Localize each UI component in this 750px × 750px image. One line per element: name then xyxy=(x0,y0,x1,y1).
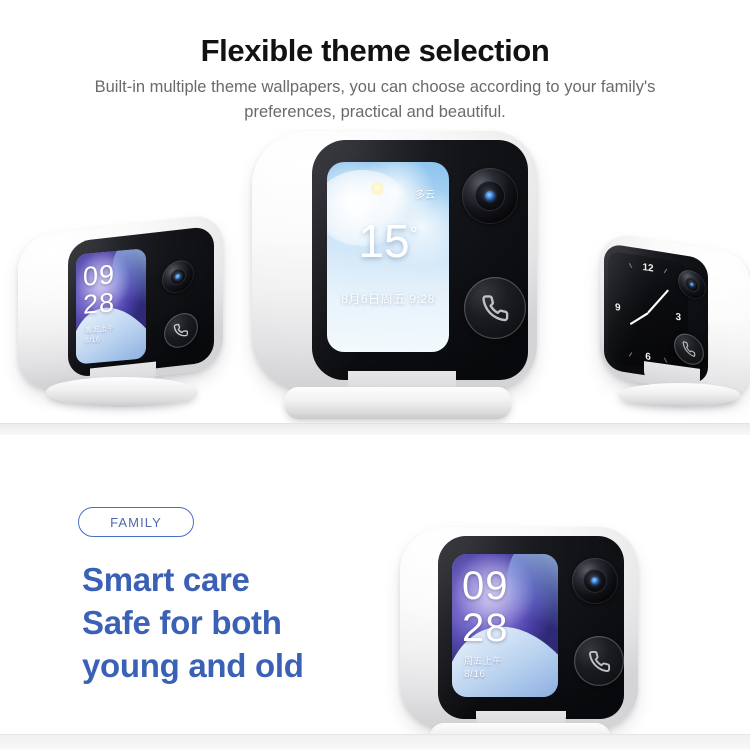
camera-lens-icon xyxy=(462,168,518,224)
weather-overlay: 多云 15° 8月6日周五 9:28 xyxy=(327,162,449,352)
clock-date: 8/16 xyxy=(85,336,100,344)
theme-selection-section: Flexible theme selection Built-in multip… xyxy=(0,0,750,435)
clock-numeral-12: 12 xyxy=(642,262,653,275)
bottom-device-screen: 09 28 周五上午 8/16 xyxy=(452,554,558,697)
family-headline: Smart care Safe for both young and old xyxy=(82,558,412,687)
center-device-screen: 多云 15° 8月6日周五 9:28 xyxy=(327,162,449,352)
clock-tick xyxy=(629,352,633,357)
clock-tick xyxy=(629,263,633,268)
headline-line-3: young and old xyxy=(82,644,412,687)
clock-tick xyxy=(664,357,668,362)
clock-numeral-3: 3 xyxy=(675,312,681,324)
bottom-device: 09 28 周五上午 8/16 xyxy=(400,527,638,727)
digital-clock-overlay: 09 28 周五上午 8/16 xyxy=(76,248,146,364)
clock-weekday: 周五上午 xyxy=(85,325,115,335)
degree-symbol: ° xyxy=(410,224,418,246)
device-front-glass: 多云 15° 8月6日周五 9:28 xyxy=(312,140,528,380)
device-front-glass: 09 28 周五上午 8/16 xyxy=(438,536,624,719)
product-feature-page: Flexible theme selection Built-in multip… xyxy=(0,0,750,750)
headline-line-1: Smart care xyxy=(82,558,412,601)
lens-inner xyxy=(475,181,504,210)
page-title: Flexible theme selection xyxy=(0,33,750,69)
lens-glint xyxy=(690,281,695,287)
device-base xyxy=(46,377,198,407)
temperature-value: 15° xyxy=(327,218,449,264)
clock-weekday: 周五上午 xyxy=(464,657,502,666)
lens-glint xyxy=(591,577,599,585)
clock-date: 8/16 xyxy=(464,670,485,680)
weather-date: 8月6日周五 9:28 xyxy=(327,290,449,307)
clock-tick xyxy=(664,269,668,274)
phone-icon xyxy=(588,650,611,673)
phone-icon xyxy=(682,340,696,358)
lens-inner xyxy=(170,267,187,287)
clock-hours: 09 xyxy=(462,566,509,606)
page-subtitle: Built-in multiple theme wallpapers, you … xyxy=(60,75,690,125)
lens-glint xyxy=(175,273,181,280)
phone-icon xyxy=(173,321,189,340)
clock-hour-hand xyxy=(629,312,649,325)
camera-lens-icon xyxy=(572,558,618,604)
lens-glint xyxy=(485,191,495,201)
lens-inner xyxy=(685,275,700,294)
video-call-button[interactable] xyxy=(464,277,526,339)
video-call-button[interactable] xyxy=(574,636,624,686)
clock-minutes: 28 xyxy=(83,289,115,319)
headline-line-2: Safe for both xyxy=(82,601,412,644)
video-call-button[interactable] xyxy=(164,310,198,351)
weather-condition: 多云 xyxy=(415,186,435,201)
lens-inner xyxy=(583,569,607,593)
camera-lens-icon xyxy=(162,257,194,296)
clock-minute-hand xyxy=(647,289,669,313)
left-device: 09 28 周五上午 8/16 xyxy=(18,225,223,380)
clock-numeral-9: 9 xyxy=(615,302,621,314)
left-device-screen: 09 28 周五上午 8/16 xyxy=(76,248,146,364)
center-device: 多云 15° 8月6日周五 9:28 xyxy=(252,131,537,389)
shelf-band xyxy=(0,424,750,435)
right-device-screen: 12 3 6 9 xyxy=(608,250,688,375)
device-front-glass: 09 28 周五上午 8/16 xyxy=(68,226,214,379)
device-base xyxy=(618,383,740,407)
temperature-number: 15 xyxy=(358,215,409,267)
device-base xyxy=(284,387,512,419)
phone-icon xyxy=(481,294,510,323)
analog-clock-overlay: 12 3 6 9 xyxy=(608,250,688,375)
clock-hours: 09 xyxy=(83,261,115,291)
bottom-shelf-band xyxy=(0,735,750,750)
clock-minutes: 28 xyxy=(462,608,509,648)
digital-clock-overlay: 09 28 周五上午 8/16 xyxy=(452,554,558,697)
right-device: 12 3 6 9 xyxy=(600,243,750,388)
family-badge: FAMILY xyxy=(78,507,194,537)
sun-icon xyxy=(371,182,384,195)
